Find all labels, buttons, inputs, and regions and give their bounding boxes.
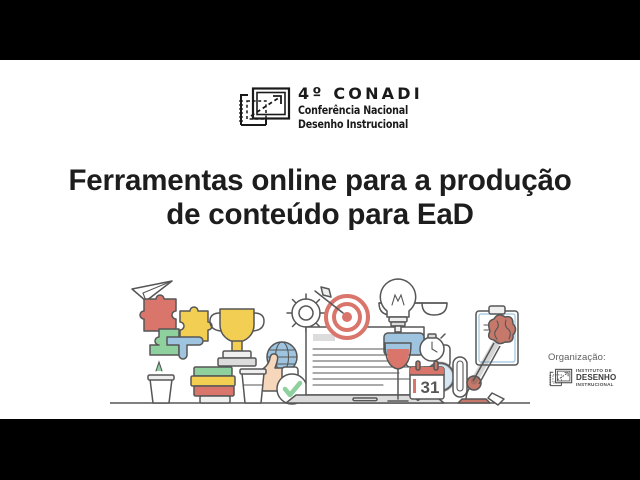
education-tools-illustration: .o { fill:none; stroke:#565656; stroke-w… [110,275,530,419]
light-bulb-icon [380,279,415,332]
brain-icon [489,315,516,344]
page-title: Ferramentas online para a produção de co… [0,164,640,232]
organizer-block: Organização: INSTITUTO [548,352,634,390]
organizer-wordmark: INSTITUTO DE DESENHO INSTRUCIONAL [576,369,616,387]
presentation-slide: 4º CONADI Conferência Nacional Desenho I… [0,60,640,419]
conference-title: 4º CONADI [298,86,423,102]
conference-wordmark: 4º CONADI Conferência Nacional Desenho I… [298,86,423,131]
slide-stage: 4º CONADI Conferência Nacional Desenho I… [0,0,640,480]
conference-subtitle-line-2: Desenho Instrucional [298,118,413,132]
paperclip-icon [453,357,467,397]
conadi-notebook-arrow-mark [236,85,292,133]
illustration-canvas: .o { fill:none; stroke:#565656; stroke-w… [110,275,530,419]
pencil-cup-icon [148,362,174,403]
paper-plane-icon [132,281,172,301]
puzzle-piece-red-icon [140,295,176,331]
conference-logo: 4º CONADI Conferência Nacional Desenho I… [236,85,423,133]
calendar-icon: 31 [410,361,444,399]
trophy-icon [210,309,264,366]
puzzle-piece-yellow-icon [180,307,212,341]
book-stack-icon [191,367,235,403]
organizer-label: Organização: [548,352,634,363]
letterbox-bar-top [0,0,640,60]
coffee-cup-icon [240,369,266,403]
calendar-day-number: 31 [421,378,440,397]
idi-notebook-arrow-mark [548,367,573,390]
organizer-name-line-3: INSTRUCIONAL [576,383,616,388]
letterbox-bar-bottom [0,419,640,480]
organizer-logo: INSTITUTO DE DESENHO INSTRUCIONAL [548,367,634,390]
conference-subtitle-line-1: Conferência Nacional [298,104,413,118]
